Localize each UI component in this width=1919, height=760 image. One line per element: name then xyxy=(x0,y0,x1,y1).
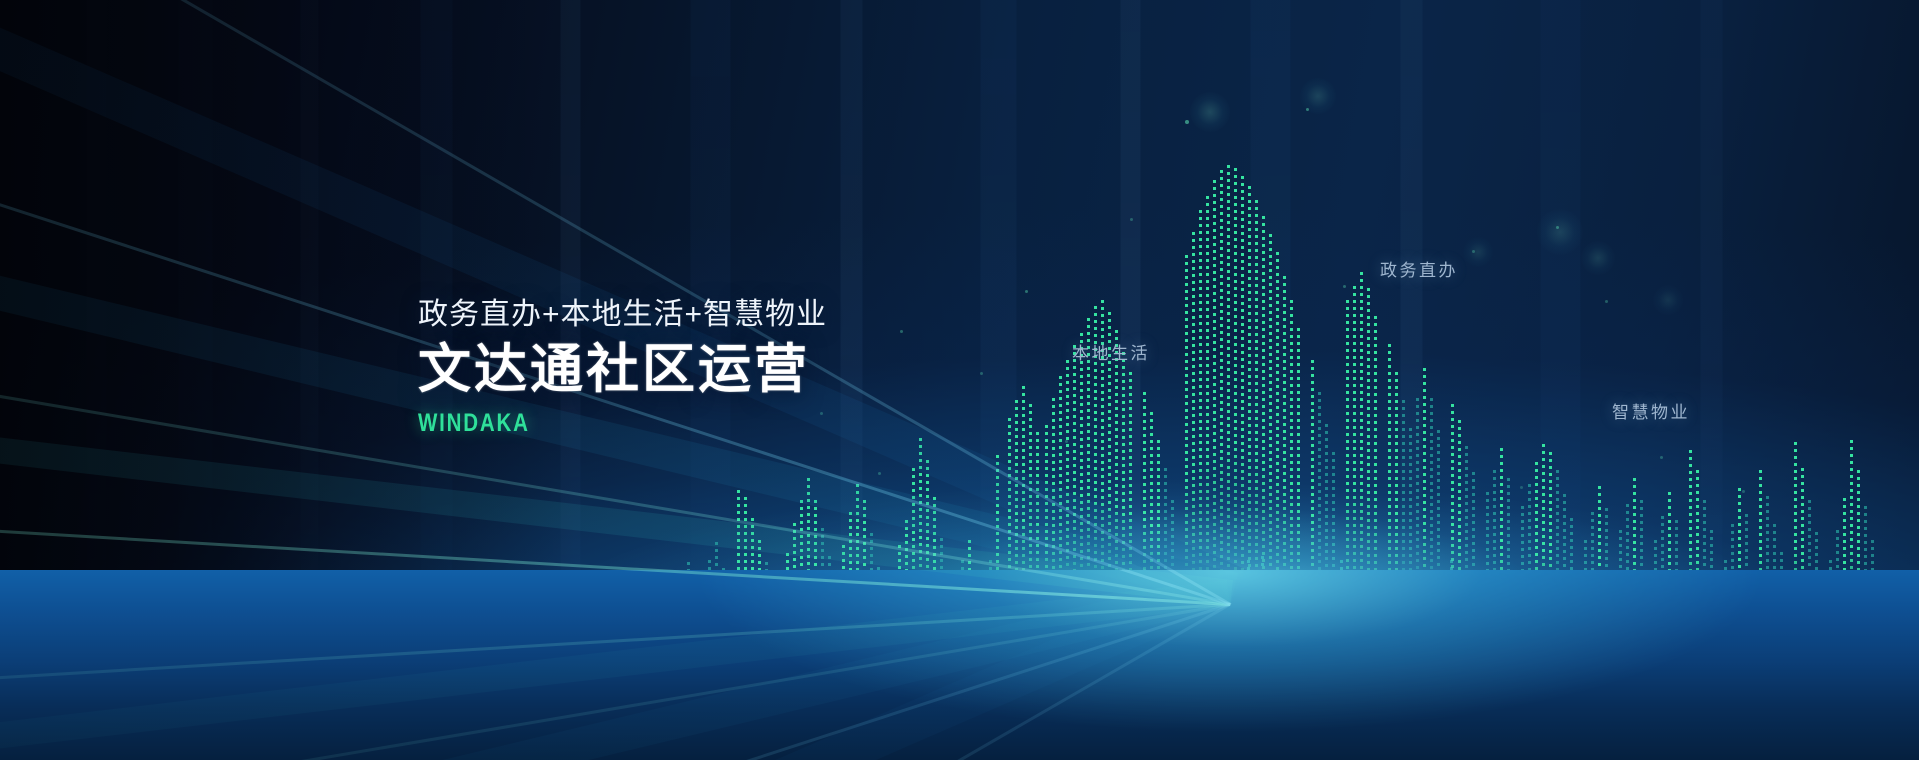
banner-headline: 文达通社区运营 xyxy=(418,342,827,398)
floating-label-3: 智慧物业 xyxy=(1612,398,1690,423)
banner-subtitle: 政务直办+本地生活+智慧物业 xyxy=(418,297,827,332)
banner-hero: 本地生活政务直办智慧物业 政务直办+本地生活+智慧物业 文达通社区运营 WIND… xyxy=(0,0,1919,760)
brand-wordmark: WINDAKA xyxy=(418,409,753,438)
headline-block: 政务直办+本地生活+智慧物业 文达通社区运营 WINDAKA xyxy=(418,297,827,438)
floating-category-labels: 本地生活政务直办智慧物业 xyxy=(0,0,1919,760)
floating-label-1: 本地生活 xyxy=(1072,339,1150,364)
floating-label-2: 政务直办 xyxy=(1380,256,1458,281)
